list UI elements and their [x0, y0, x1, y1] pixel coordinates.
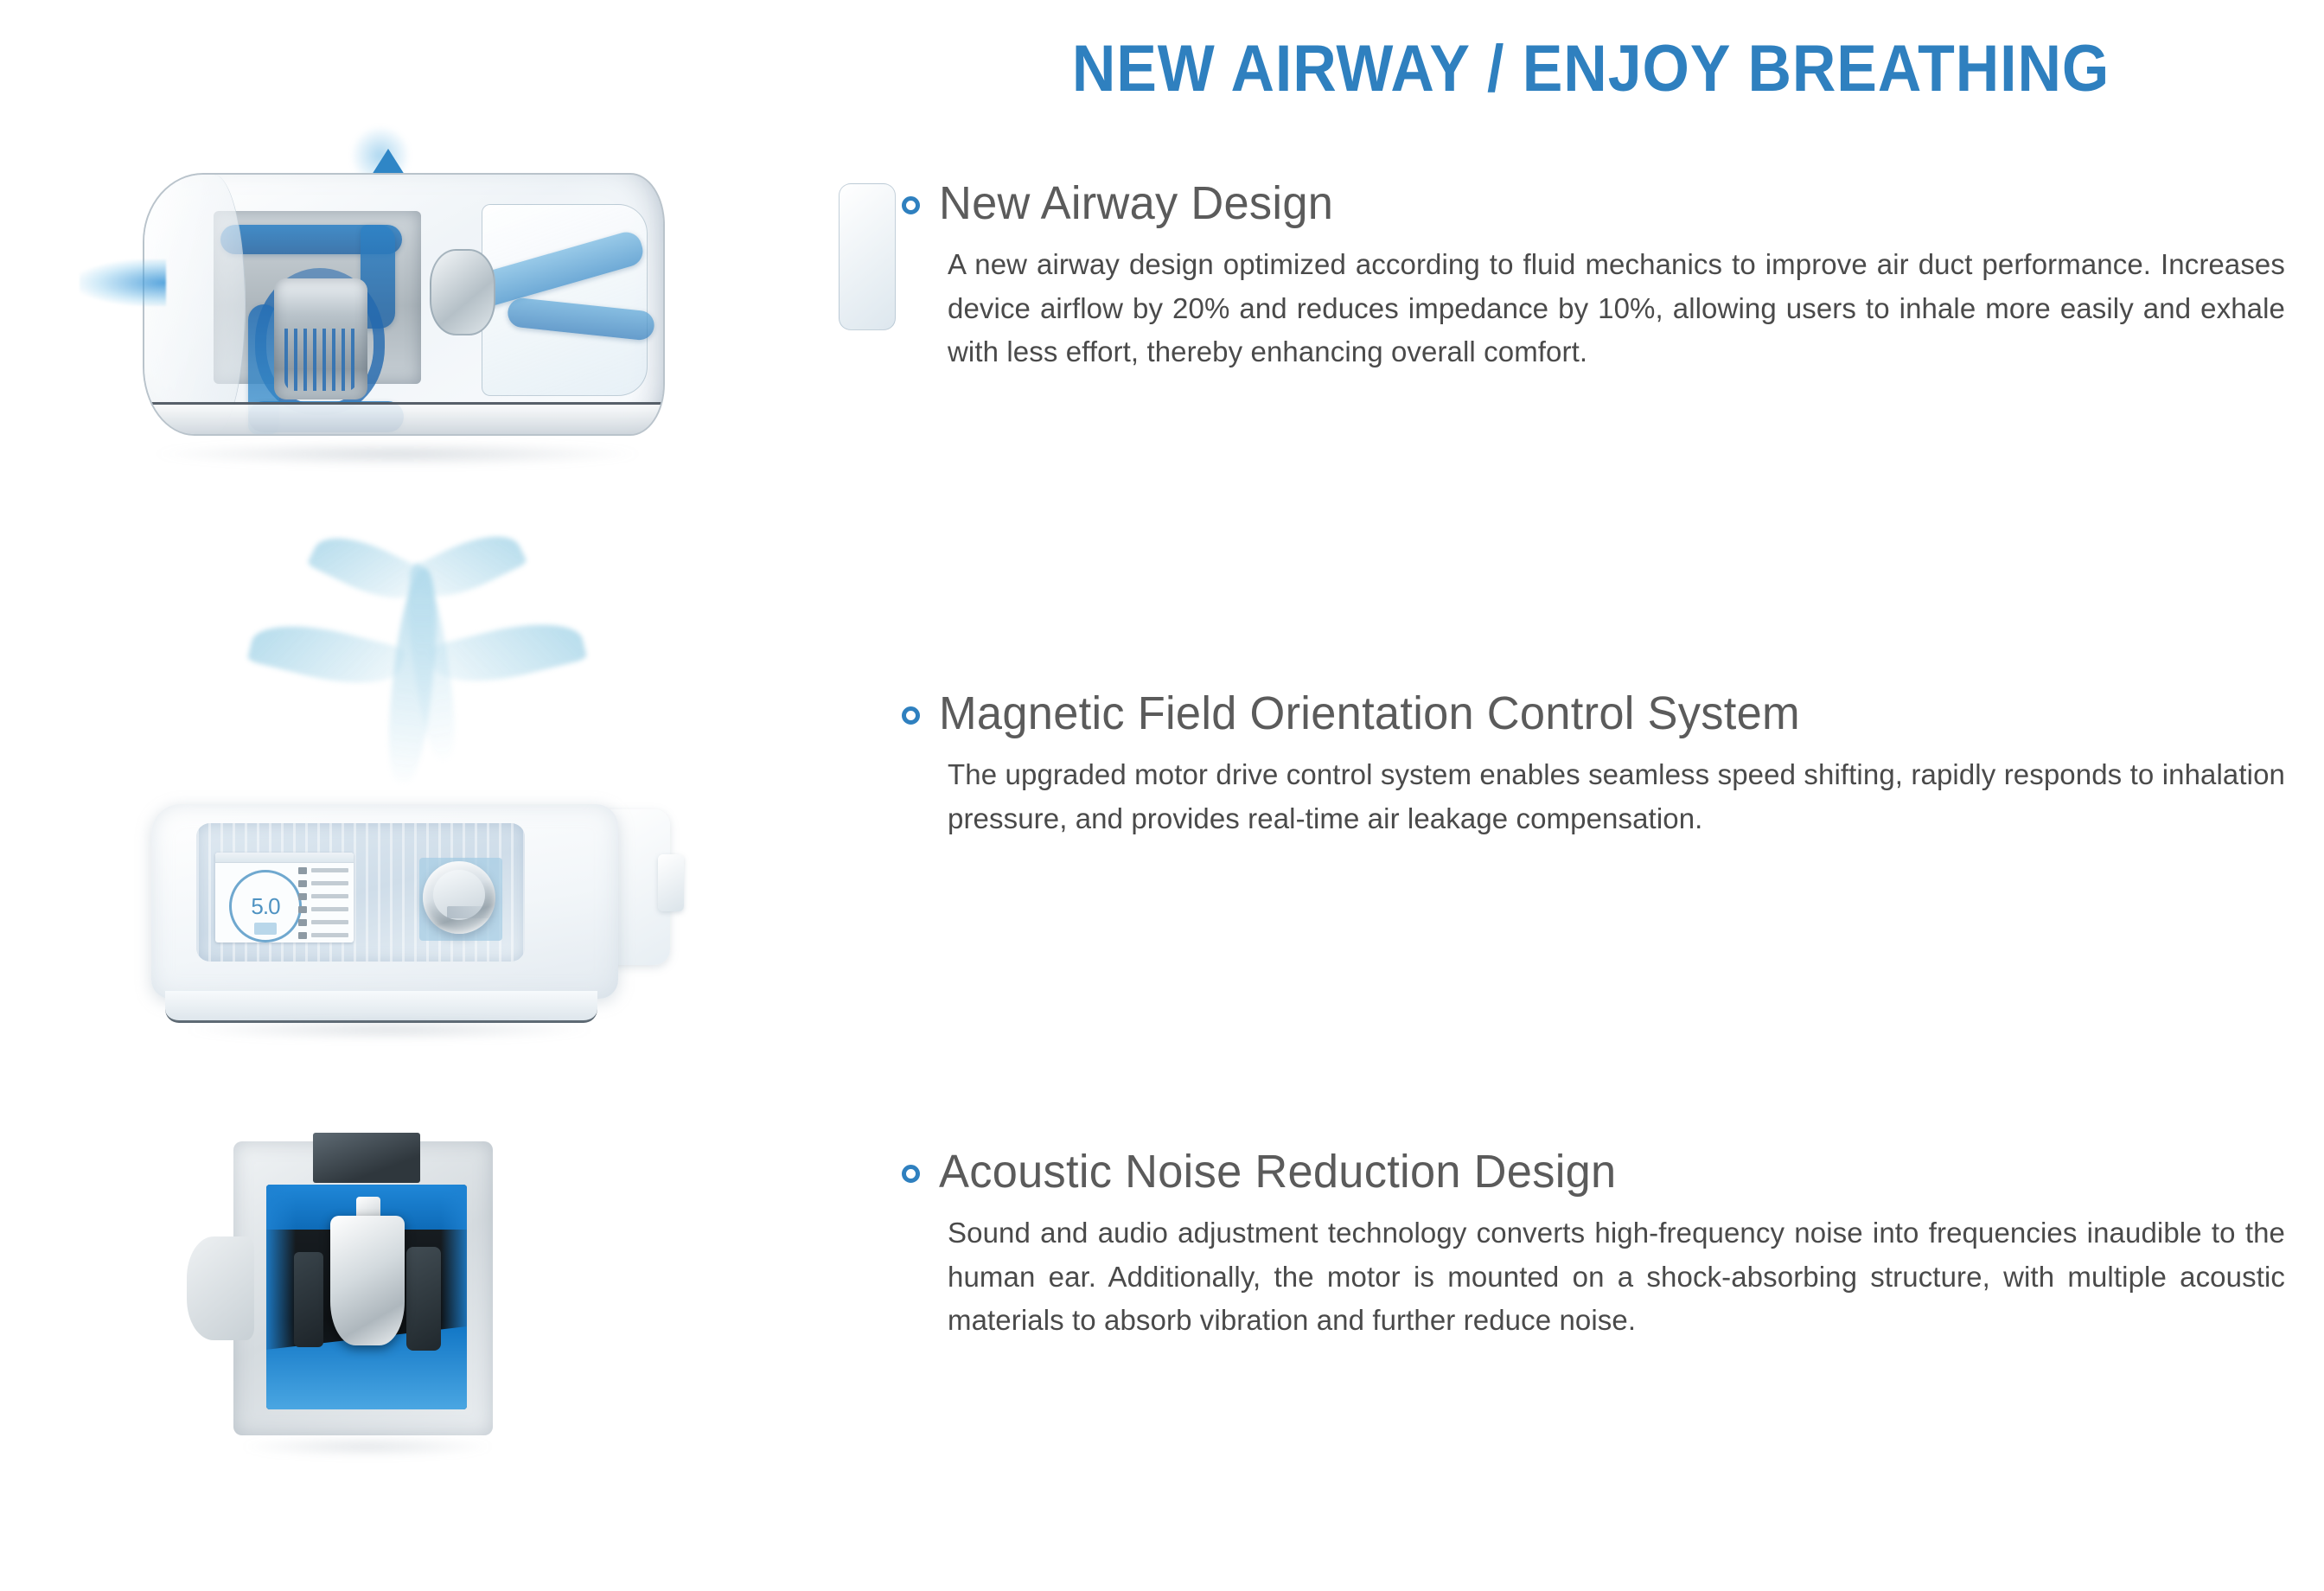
- menu-row: [298, 931, 348, 939]
- menu-row: [298, 866, 348, 874]
- housing-top-plate: [313, 1133, 420, 1183]
- section-header: New Airway Design: [902, 177, 2285, 229]
- front-panel: 5.0: [196, 823, 525, 962]
- section-body: A new airway design optimized according …: [948, 243, 2285, 373]
- gauge-chip-icon: [254, 923, 277, 935]
- figure-cpap-cutaway-airway: [0, 130, 873, 536]
- menu-item-icon: [298, 893, 307, 900]
- display-menu: [298, 866, 348, 939]
- plume-wing: [429, 610, 588, 696]
- content-column: NEW AIRWAY / ENJOY BREATHING New Airway …: [873, 0, 2324, 1591]
- page-title: NEW AIRWAY / ENJOY BREATHING: [954, 31, 2227, 106]
- menu-row: [298, 918, 348, 926]
- menu-item-icon: [298, 932, 307, 939]
- feature-section-acoustic-noise-reduction-design: Acoustic Noise Reduction Design Sound an…: [902, 1146, 2285, 1342]
- device-display: 5.0: [215, 853, 354, 942]
- damping-pillar: [294, 1252, 323, 1347]
- magnetic-field-plume: [216, 527, 614, 813]
- blower-turbine: [274, 278, 367, 399]
- feature-section-new-airway-design: New Airway Design A new airway design op…: [902, 177, 2285, 374]
- motor-rotor: [330, 1216, 405, 1345]
- damping-pillar: [406, 1247, 441, 1351]
- menu-row: [298, 892, 348, 900]
- tank-latch: [658, 854, 684, 911]
- cpap-device: 5.0: [151, 804, 670, 1033]
- menu-item-label: [311, 881, 348, 885]
- control-knob: [423, 861, 495, 934]
- drop-shadow: [186, 1020, 592, 1039]
- menu-item-label: [311, 920, 348, 924]
- menu-item-icon: [298, 919, 307, 926]
- ring-bullet-icon: [902, 196, 920, 214]
- section-header: Acoustic Noise Reduction Design: [902, 1146, 2285, 1198]
- section-title: New Airway Design: [939, 177, 1333, 229]
- menu-item-icon: [298, 867, 307, 874]
- intake-airflow-jet: [80, 259, 166, 306]
- figure-cpap-front-device: 5.0: [0, 519, 873, 1055]
- menu-row: [298, 905, 348, 913]
- section-body: Sound and audio adjustment technology co…: [948, 1211, 2285, 1341]
- brand-logo: [447, 906, 494, 918]
- menu-item-label: [311, 907, 348, 911]
- section-body: The upgraded motor drive control system …: [948, 753, 2285, 840]
- section-title: Acoustic Noise Reduction Design: [939, 1146, 1616, 1198]
- impeller-drum: [430, 249, 495, 335]
- feature-section-magnetic-field-orientation-control-system: Magnetic Field Orientation Control Syste…: [902, 687, 2285, 840]
- ring-bullet-icon: [902, 1165, 920, 1183]
- menu-item-label: [311, 894, 348, 898]
- motor-assembly: [182, 1133, 545, 1479]
- device-base: [144, 402, 663, 434]
- device-base: [165, 991, 597, 1023]
- pressure-gauge: 5.0: [229, 870, 302, 942]
- section-title: Magnetic Field Orientation Control Syste…: [939, 687, 1800, 739]
- figure-motor-cutaway: [0, 1115, 873, 1505]
- display-status-bar: [215, 853, 354, 863]
- drop-shadow: [156, 443, 640, 465]
- menu-row: [298, 879, 348, 887]
- up-arrow-icon: [372, 149, 405, 175]
- menu-item-label: [311, 933, 348, 937]
- plume-wing: [247, 612, 406, 698]
- pressure-value: 5.0: [251, 893, 279, 920]
- mount-bracket: [187, 1236, 254, 1340]
- acoustic-cavity: [266, 1185, 467, 1409]
- section-header: Magnetic Field Orientation Control Syste…: [902, 687, 2285, 739]
- menu-item-icon: [298, 880, 307, 887]
- drop-shadow: [242, 1437, 493, 1456]
- ring-bullet-icon: [902, 706, 920, 725]
- figure-column: 5.0: [0, 0, 873, 1591]
- device-shell: 5.0: [151, 804, 618, 999]
- menu-item-icon: [298, 906, 307, 913]
- device-shell: [143, 173, 665, 436]
- menu-item-label: [311, 868, 348, 872]
